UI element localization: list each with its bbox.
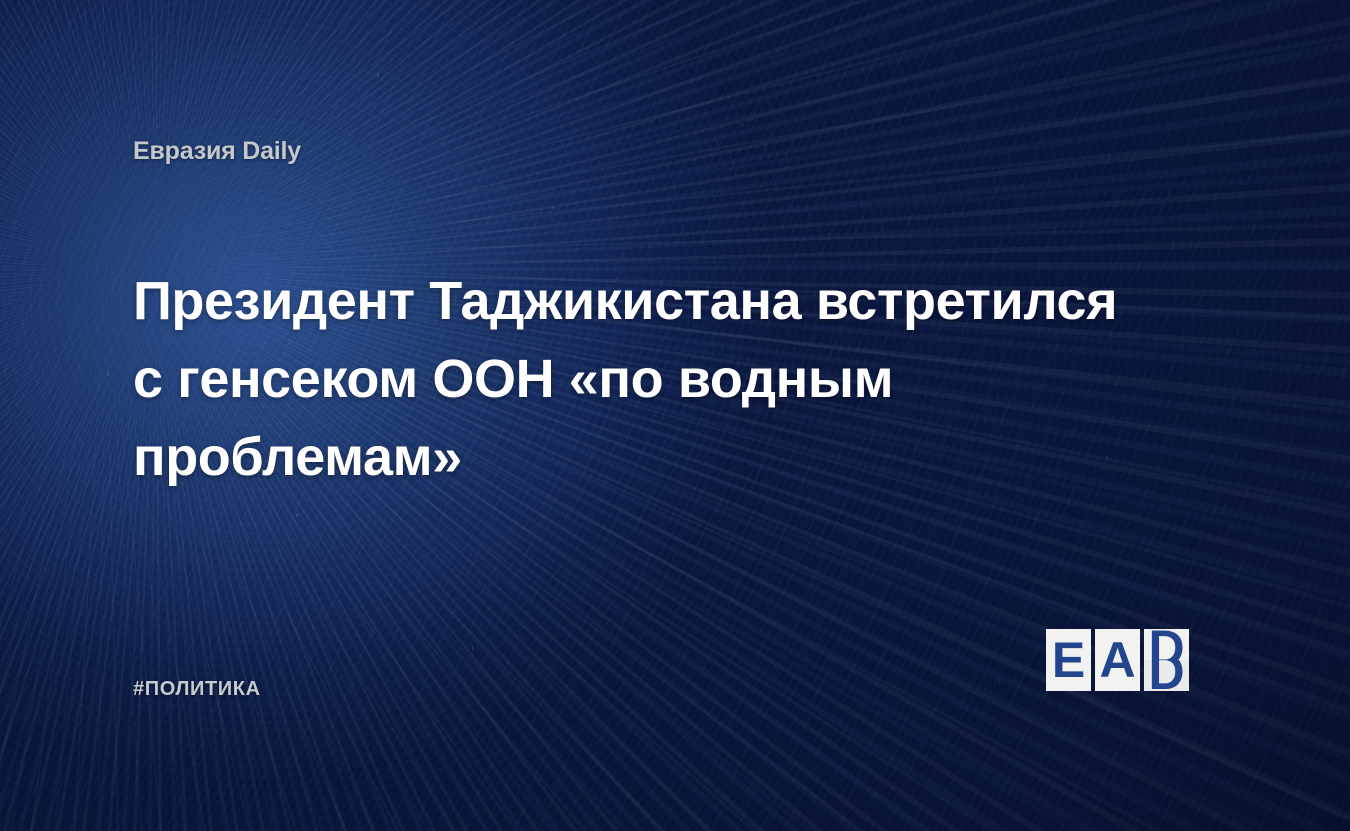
logo-tile-d-top-half: D bbox=[1144, 629, 1189, 660]
category-hashtag: #ПОЛИТИКА bbox=[133, 678, 261, 701]
logo-tile-d: D D bbox=[1144, 629, 1189, 691]
logo-letter-d-top: D bbox=[1144, 629, 1189, 660]
headline: Президент Таджикистана встретился с генс… bbox=[133, 262, 1193, 496]
logo-tile-e: E bbox=[1046, 629, 1091, 691]
news-card: Евразия Daily Президент Таджикистана вст… bbox=[0, 0, 1350, 831]
logo-tile-a: A bbox=[1095, 629, 1140, 691]
headline-line-3: проблемам» bbox=[133, 418, 1193, 496]
content-layer: Евразия Daily Президент Таджикистана вст… bbox=[0, 0, 1350, 831]
brand-name: Евразия Daily bbox=[133, 137, 301, 166]
headline-line-1: Президент Таджикистана встретился bbox=[133, 262, 1193, 340]
headline-line-2: с генсеком ООН «по водным bbox=[133, 340, 1193, 418]
logo-tile-d-bottom-half: D bbox=[1144, 660, 1189, 691]
logo-letter-e: E bbox=[1046, 629, 1091, 691]
logo-letter-a: A bbox=[1095, 629, 1140, 691]
logo-letter-d-bottom: D bbox=[1144, 660, 1189, 691]
ead-logo: E A D D bbox=[1046, 629, 1189, 691]
